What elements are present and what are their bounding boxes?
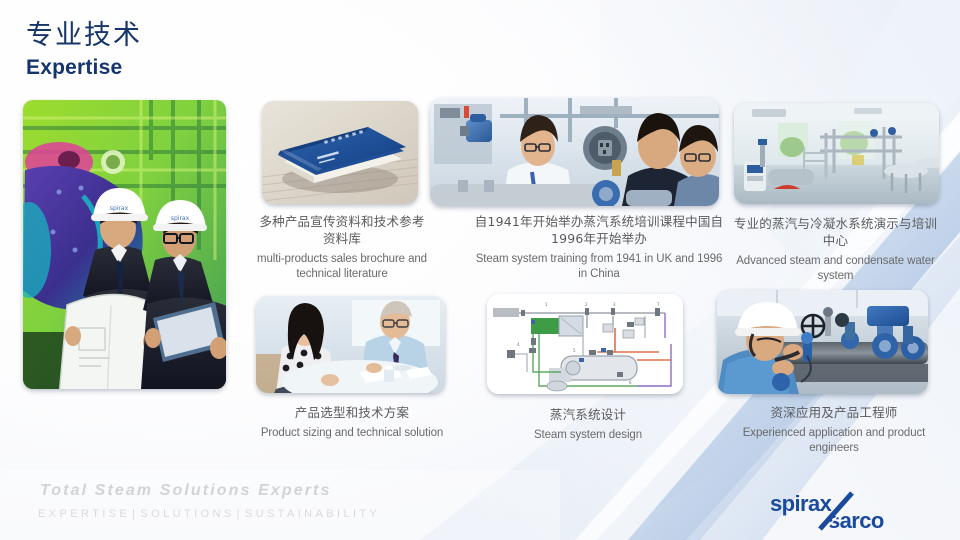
blue-product-catalogue-photo [262,101,418,204]
caption-system-design: 蒸汽系统设计 Steam system design [490,406,686,443]
spirax-sarco-logo: spirax sarco [768,489,940,533]
footer-pillar-sustainability: SUSTAINABILITY [245,508,380,520]
caption-product-sizing-english: Product sizing and technical solution [254,426,450,441]
photo-inner [262,101,418,204]
photo-inner [734,103,939,204]
footer-separator-1: | [130,508,140,520]
caption-engineers-chinese: 资深应用及产品工程师 [730,404,938,421]
caption-training-chinese: 自1941年开始举办蒸汽系统培训课程中国自1996年开始举办 [470,213,728,247]
footer-pillars: EXPERTISE|SOLUTIONS|SUSTAINABILITY [38,508,380,520]
page-title-chinese: 专业技术 [26,22,142,49]
caption-product-sizing: 产品选型和技术方案 Product sizing and technical s… [254,404,450,441]
svg-text:spirax: spirax [171,215,190,222]
caption-training-english: Steam system training from 1941 in UK an… [470,252,728,282]
caption-training-centre-english: Advanced steam and condensate water syst… [733,254,938,284]
caption-training-centre-chinese: 专业的蒸汽与冷凝水系统演示与培训中心 [733,215,938,249]
page-title: 专业技术 Expertise [26,22,142,78]
page-title-english: Expertise [26,57,142,78]
footer-tagline: Total Steam Solutions Experts [40,482,331,500]
caption-system-design-chinese: 蒸汽系统设计 [490,406,686,423]
steam-training-class-photo [430,98,719,206]
photo-inner: 1 2 3 7 4 5 6 [487,294,683,394]
caption-training-centre: 专业的蒸汽与冷凝水系统演示与培训中心 Advanced steam and co… [733,215,938,284]
caption-system-design-english: Steam system design [490,428,686,443]
training-centre-interior-photo [734,103,939,204]
caption-book: 多种产品宣传资料和技术参考资料库 multi-products sales br… [254,213,430,282]
caption-engineers-english: Experienced application and product engi… [730,426,938,456]
photo-inner [430,98,719,206]
footer-separator-2: | [235,508,245,520]
caption-engineers: 资深应用及产品工程师 Experienced application and p… [730,404,938,456]
caption-training: 自1941年开始举办蒸汽系统培训课程中国自1996年开始举办 Steam sys… [470,213,728,282]
two-engineers-blueprint-photo: spirax [23,100,226,389]
footer-pillar-expertise: EXPERTISE [38,508,130,520]
slide-canvas: 专业技术 Expertise [0,0,960,540]
photo-inner [717,290,928,394]
photo-inner [256,296,445,393]
svg-text:spirax: spirax [770,491,833,516]
footer-pillar-solutions: SOLUTIONS [140,508,234,520]
caption-product-sizing-chinese: 产品选型和技术方案 [254,404,450,421]
caption-book-english: multi-products sales brochure and techni… [254,252,430,282]
svg-text:spirax: spirax [110,205,129,212]
field-engineer-valves-photo [717,290,928,394]
steam-system-schematic-diagram: 1 2 3 7 4 5 6 [487,294,683,394]
photo-inner: spirax [23,100,226,389]
customer-meeting-photo [256,296,445,393]
caption-book-chinese: 多种产品宣传资料和技术参考资料库 [254,213,430,247]
